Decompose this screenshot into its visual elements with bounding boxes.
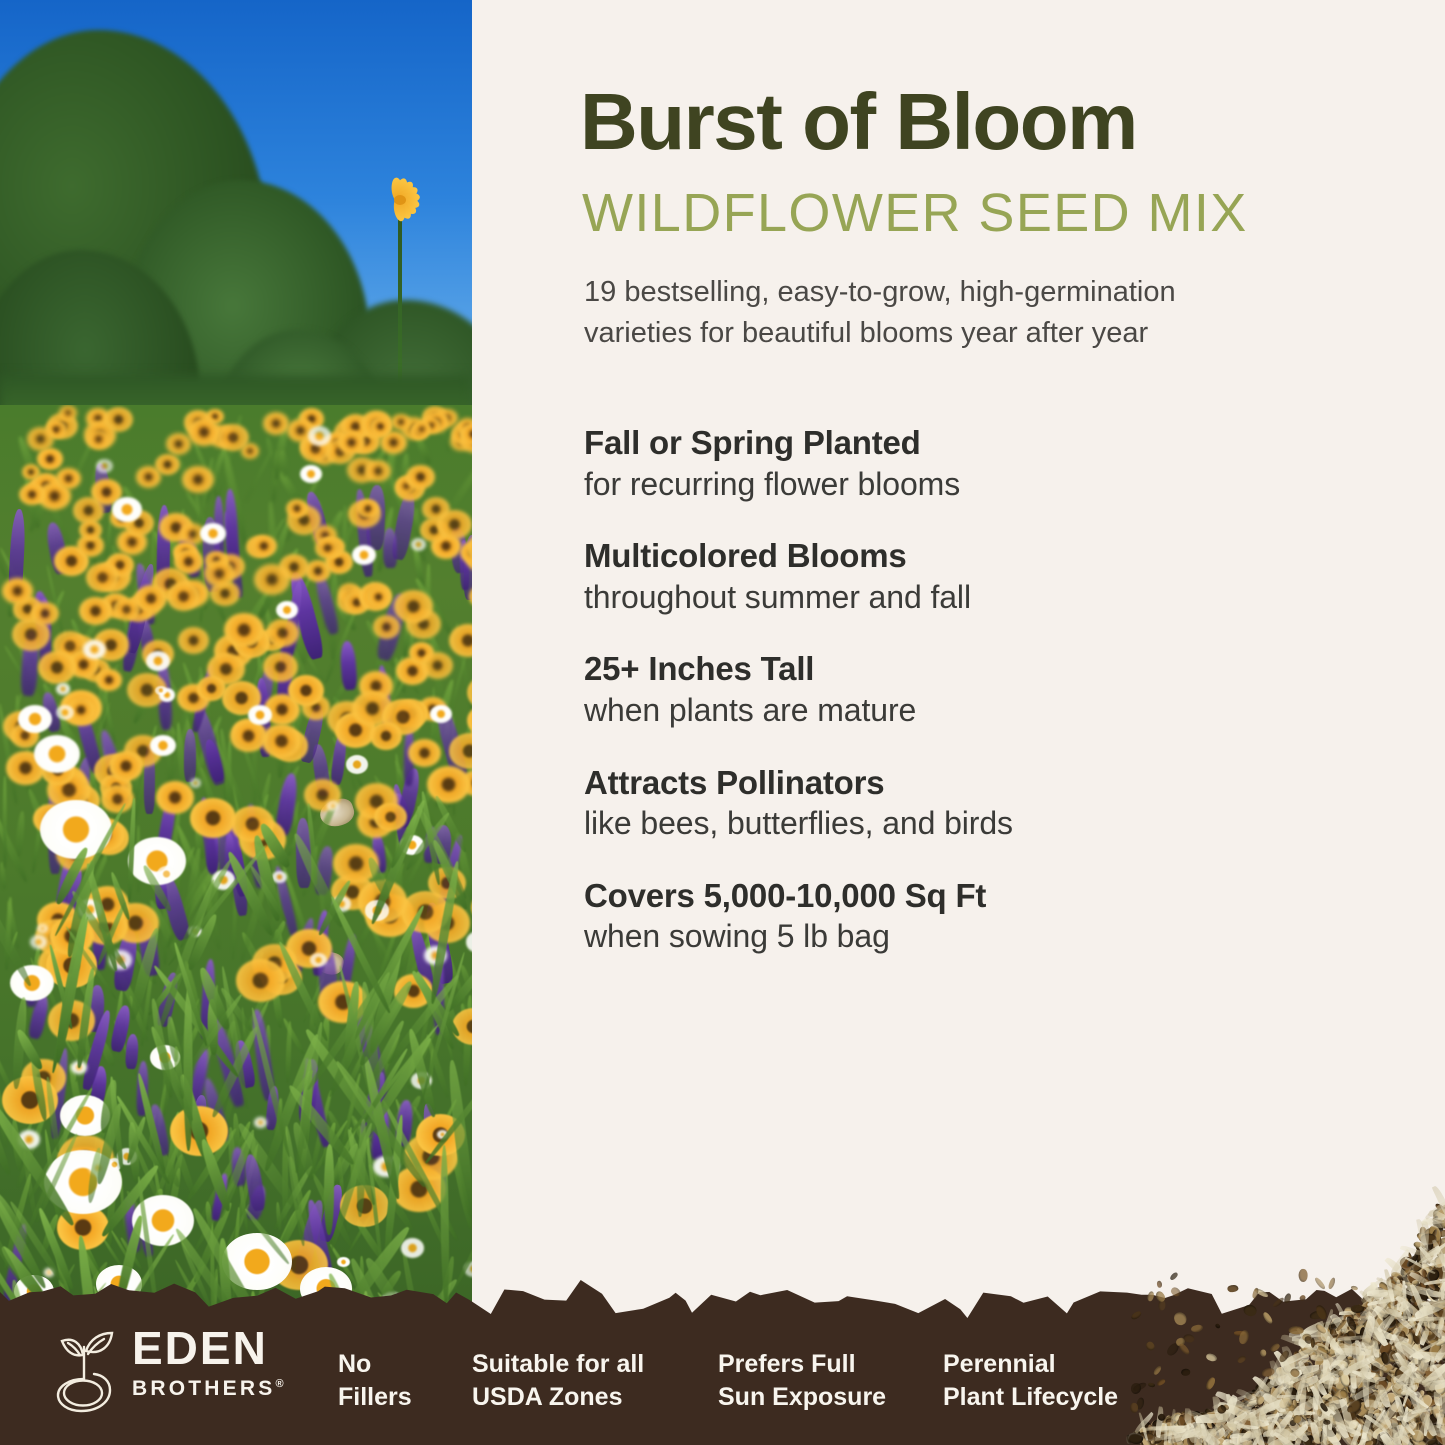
seed-particle [1352,1317,1367,1333]
seed-particle [1371,1324,1379,1329]
seed-particle [1352,1312,1360,1320]
orange-coneflower [263,412,289,435]
seed-particle [1290,1402,1300,1411]
seed-particle [1292,1414,1302,1424]
seed-particle [1383,1312,1400,1331]
seed-particle [1339,1347,1351,1359]
seed-husk [1144,1426,1185,1432]
seed-particle [1284,1372,1303,1391]
seed-particle [1291,1381,1302,1392]
seed-particle [1259,1403,1271,1415]
seed-particle [1218,1439,1226,1445]
seed-particle [1329,1430,1339,1440]
seed-particle [1421,1396,1439,1408]
seed-particle [1248,1408,1258,1420]
seed-particle [1177,1440,1192,1445]
seed-husk [1234,1402,1252,1414]
logo-brothers-label: BROTHERS [132,1377,275,1400]
seed-husk [1337,1335,1370,1341]
seed-particle [1296,1392,1307,1402]
seed-particle [1243,1410,1249,1416]
seed-particle [1142,1431,1156,1445]
seed-particle [1305,1389,1311,1395]
seed-husk [1323,1409,1336,1428]
seed-particle [1387,1316,1401,1330]
seed-particle [1406,1406,1416,1413]
seed-particle [1228,1414,1236,1423]
orange-coneflower [79,520,102,540]
seed-particle [1354,1433,1372,1445]
seed-particle [1428,1315,1437,1326]
seed-particle [1293,1397,1300,1402]
seed-particle [1383,1348,1389,1364]
seed-particle [1349,1432,1360,1444]
seed-particle [1324,1425,1336,1437]
seed-particle [1380,1361,1395,1375]
seed-particle [1269,1375,1281,1382]
seed-particle [1242,1389,1260,1407]
seed-husk [1355,1299,1380,1327]
seed-husk [1194,1423,1204,1445]
seed-particle [1169,1428,1187,1445]
seed-particle [1428,1355,1435,1367]
seed-particle [1405,1406,1417,1413]
seed-particle [1223,1431,1229,1436]
seed-husk [1192,1424,1220,1445]
seed-particle [1363,1310,1374,1321]
seed-particle [1225,1418,1239,1433]
seed-particle [1430,1427,1445,1445]
feature-list: Fall or Spring Planted for recurring flo… [584,422,1344,988]
seed-particle [1379,1376,1389,1386]
seed-particle [1225,1424,1233,1432]
seed-particle [1174,1425,1187,1433]
seed-particle [1437,1377,1445,1384]
seed-husk [1277,1394,1311,1400]
seed-particle [1269,1381,1282,1399]
seed-husk [1166,1425,1190,1436]
seed-particle [1345,1406,1352,1413]
seed-particle [1394,1440,1404,1445]
seed-particle [1327,1396,1338,1413]
seed-husk [1316,1405,1338,1422]
seed-husk [1184,1428,1221,1438]
seed-particle [1344,1397,1356,1411]
seed-husk [1321,1398,1348,1412]
seed-particle [1316,1345,1330,1355]
seed-particle [1198,1433,1211,1445]
seed-particle [1228,1407,1234,1419]
seed-particle [1386,1331,1396,1340]
seed-particle [1350,1407,1362,1417]
seed-particle [1407,1334,1415,1343]
seed-particle [1285,1421,1294,1434]
seed-particle [1250,1388,1264,1404]
seed-particle [1211,1435,1222,1445]
seed-particle [1392,1281,1405,1297]
white-daisy-flower [411,538,426,550]
seed-particle [1415,1315,1429,1329]
seed-particle [1287,1358,1297,1366]
seed-particle [1232,1420,1249,1438]
seed-particle [1364,1420,1369,1426]
seed-husk [1428,1422,1445,1440]
seed-particle [1351,1423,1363,1434]
seed-particle [1305,1424,1318,1434]
seed-particle [1190,1415,1201,1429]
seed-particle [1363,1394,1371,1402]
seed-particle [1356,1302,1372,1314]
seed-husk [1360,1344,1365,1380]
seed-particle [1319,1427,1331,1441]
seed-particle [1347,1404,1354,1412]
seed-particle [1330,1364,1346,1380]
seed-particle [1297,1398,1306,1405]
seed-particle [1392,1330,1405,1343]
seed-particle [1367,1318,1377,1331]
seed-particle [1421,1394,1430,1407]
seed-husk [1155,1431,1189,1441]
seed-particle [1281,1369,1292,1379]
seed-particle [1274,1392,1288,1401]
seed-husk [1291,1397,1317,1416]
seed-particle [1219,1408,1228,1417]
seed-particle [1218,1411,1225,1418]
seed-particle [1251,1436,1258,1445]
seed-husk [1421,1373,1443,1383]
seed-particle [1271,1393,1281,1403]
seed-particle [1334,1408,1345,1419]
seed-particle [1236,1432,1241,1445]
seed-particle [1411,1359,1419,1368]
seed-particle [1279,1424,1295,1441]
seed-particle [1147,1424,1155,1433]
seed-husk [1402,1301,1417,1334]
seed-particle [1333,1330,1340,1337]
seed-husk [1436,1309,1445,1338]
seed-particle [1300,1422,1306,1430]
seed-particle [1240,1402,1247,1414]
seed-particle [1247,1436,1254,1442]
seed-husk [1401,1419,1416,1436]
seed-particle [1320,1434,1328,1445]
seed-particle [1235,1425,1241,1432]
seed-particle [1376,1384,1388,1394]
seed-particle [1350,1319,1361,1330]
seed-particle [1163,1440,1173,1445]
seed-particle [1291,1423,1304,1431]
seed-particle [1312,1366,1326,1380]
seed-particle [1412,1335,1428,1349]
seed-particle [1418,1294,1426,1305]
seed-particle [1340,1423,1355,1436]
seed-particle [1282,1441,1290,1445]
seed-husk [1265,1412,1282,1438]
seed-husk [1339,1420,1356,1431]
seed-particle [1406,1372,1423,1378]
seed-particle [1339,1400,1354,1415]
seed-particle [1205,1418,1217,1424]
seed-particle [1340,1409,1356,1416]
orange-coneflower [408,739,441,767]
seed-particle [1189,1411,1203,1430]
seed-husk [1360,1290,1372,1304]
seed-particle [1356,1310,1369,1321]
seed-particle [1273,1407,1284,1419]
seed-particle [1332,1415,1336,1422]
seed-particle [1232,1421,1241,1435]
seed-particle [1285,1361,1294,1369]
seed-particle [1405,1410,1417,1419]
seed-particle [1417,1365,1423,1379]
seed-particle [1291,1406,1299,1419]
seed-particle [1261,1367,1275,1378]
seed-particle [1239,1406,1248,1416]
seed-particle [1180,1424,1190,1436]
seed-particle [1435,1413,1445,1426]
seed-particle [1391,1309,1407,1318]
seed-particle [1367,1361,1382,1376]
seed-particle [1302,1401,1315,1413]
seed-husk [1421,1315,1445,1344]
seed-particle [1360,1347,1367,1353]
seed-husk [1427,1367,1445,1391]
seed-particle [1438,1432,1443,1444]
seed-particle [1268,1392,1280,1403]
seed-particle [1286,1398,1296,1407]
seed-particle [1271,1385,1279,1395]
seed-particle [1318,1409,1327,1420]
seed-particle [1317,1409,1334,1416]
seed-particle [1273,1396,1283,1406]
seed-particle [1399,1415,1412,1429]
seed-particle [1388,1328,1407,1345]
seed-particle [1419,1349,1428,1360]
seed-particle [1200,1412,1207,1422]
seed-particle [1290,1430,1298,1438]
seed-particle [1389,1317,1394,1323]
seed-husk [1362,1366,1369,1407]
seed-particle [1392,1282,1403,1288]
meadow-region [0,405,472,1310]
seed-husk [1361,1431,1374,1441]
seed-particle [1174,1419,1184,1430]
seed-particle [1328,1389,1332,1402]
seed-particle [1286,1401,1298,1412]
seed-particle [1408,1408,1424,1424]
seed-particle [1410,1309,1419,1326]
seed-particle [1400,1365,1413,1374]
seed-particle [1390,1434,1403,1445]
seed-particle [1286,1359,1300,1369]
seed-particle [1217,1416,1229,1427]
seed-husk [1354,1432,1368,1445]
seed-particle [1340,1428,1353,1441]
seed-particle [1138,1419,1155,1437]
seed-particle [1317,1380,1329,1388]
seed-husk [1297,1327,1315,1349]
seed-particle [1431,1338,1445,1357]
logo-wordmark: EDEN BROTHERS® [132,1325,284,1399]
seed-husk [1238,1409,1256,1420]
registered-trademark-icon: ® [275,1378,283,1390]
seed-husk [1249,1411,1259,1445]
seed-particle [1365,1393,1375,1407]
seed-particle [1339,1372,1350,1387]
seed-particle [1328,1366,1344,1384]
seed-particle [1288,1440,1297,1445]
seed-particle [1418,1397,1431,1409]
seed-particle [1188,1421,1196,1430]
seed-particle [1389,1279,1395,1286]
seed-particle [1276,1398,1282,1404]
seed-particle [1243,1396,1253,1408]
seed-particle [1310,1339,1323,1353]
seed-particle [1429,1319,1445,1334]
seed-particle [1131,1383,1142,1395]
seed-husk [1283,1382,1296,1391]
seed-husk [1217,1399,1258,1425]
logo-eden-text: EDEN [132,1325,284,1371]
seed-particle [1315,1419,1323,1427]
seed-particle [1408,1323,1424,1341]
seed-particle [1206,1352,1218,1362]
seed-particle [1316,1408,1322,1416]
seed-particle [1229,1415,1243,1423]
seed-husk [1371,1400,1401,1433]
seed-particle [1317,1399,1333,1415]
seed-husk [1433,1344,1445,1363]
seed-particle [1291,1412,1299,1421]
seed-particle [1296,1399,1300,1403]
seed-particle [1312,1364,1321,1371]
seed-particle [1276,1398,1284,1405]
seed-particle [1240,1428,1259,1444]
seed-particle [1378,1341,1392,1357]
seed-husk [1410,1405,1436,1413]
logo-brothers-text: BROTHERS® [132,1378,284,1399]
seed-husk [1371,1392,1383,1410]
seed-particle [1156,1430,1168,1443]
seed-particle [1279,1425,1295,1444]
seed-particle [1320,1328,1327,1343]
seed-particle [1348,1369,1358,1379]
seed-particle [1380,1354,1390,1368]
seed-particle [1149,1419,1159,1431]
seed-husk [1388,1333,1409,1345]
seed-particle [1259,1434,1271,1443]
seed-particle [1288,1367,1299,1382]
seed-particle [1407,1381,1420,1388]
seed-particle [1394,1367,1408,1381]
seed-particle [1264,1424,1279,1440]
seed-particle [1290,1382,1303,1392]
seed-particle [1363,1431,1373,1445]
seed-particle [1261,1418,1273,1433]
seed-particle [1354,1360,1371,1378]
seed-particle [1300,1409,1307,1416]
seed-particle [1347,1323,1355,1339]
seed-particle [1405,1411,1415,1420]
seed-husk [1279,1407,1309,1443]
seed-particle [1395,1341,1412,1349]
seed-particle [1335,1318,1348,1330]
seed-particle [1372,1390,1379,1397]
footer-badge-sun-exposure: Prefers Full Sun Exposure [718,1348,886,1413]
seed-particle [1340,1331,1353,1344]
seed-particle [1374,1368,1385,1380]
seed-particle [1248,1418,1259,1429]
seed-particle [1320,1354,1334,1366]
seed-particle [1411,1432,1430,1445]
seed-particle [1343,1387,1350,1404]
seed-particle [1196,1415,1210,1432]
seed-particle [1395,1371,1406,1382]
seed-particle [1360,1367,1368,1371]
seed-particle [1373,1311,1385,1320]
seed-particle [1310,1410,1325,1426]
seed-particle [1375,1348,1385,1359]
seed-particle [1298,1400,1314,1415]
seed-particle [1253,1406,1270,1423]
seed-particle [1410,1407,1426,1420]
seed-particle [1345,1396,1358,1408]
seed-husk [1329,1402,1349,1439]
seed-particle [1362,1302,1372,1312]
seed-particle [1211,1410,1226,1425]
seed-particle [1356,1424,1364,1434]
seed-particle [1321,1362,1336,1377]
seed-particle [1297,1383,1311,1396]
seed-particle [1373,1301,1390,1310]
seed-particle [1273,1395,1287,1409]
seed-particle [1249,1437,1260,1445]
seed-particle [1307,1437,1313,1444]
seed-particle [1286,1435,1295,1443]
seed-particle [1414,1360,1426,1372]
seed-particle [1348,1419,1360,1432]
seed-particle [1372,1417,1383,1426]
seed-particle [1373,1285,1387,1299]
seed-particle [1400,1404,1408,1419]
seed-particle [1416,1332,1421,1337]
seed-particle [1313,1376,1322,1384]
seed-particle [1372,1318,1381,1326]
seed-particle [1410,1289,1420,1303]
seed-particle [1318,1403,1329,1414]
seed-particle [1327,1375,1336,1384]
seed-particle [1258,1416,1272,1433]
seed-particle [1380,1381,1394,1393]
seed-particle [1382,1314,1396,1333]
seed-particle [1430,1322,1436,1330]
seed-particle [1390,1342,1399,1347]
seed-particle [1339,1397,1349,1410]
seed-particle [1209,1421,1222,1432]
seed-particle [1380,1305,1398,1324]
seed-particle [1317,1342,1335,1360]
seed-particle [1304,1403,1308,1409]
seed-particle [1394,1371,1409,1384]
seed-particle [1333,1399,1346,1414]
seed-husk [1252,1374,1271,1393]
seed-particle [1225,1434,1234,1443]
seed-particle [1369,1398,1378,1407]
seed-particle [1236,1428,1245,1445]
seed-husk [1251,1418,1268,1428]
orange-coneflower [182,466,213,493]
seed-particle [1272,1367,1289,1379]
